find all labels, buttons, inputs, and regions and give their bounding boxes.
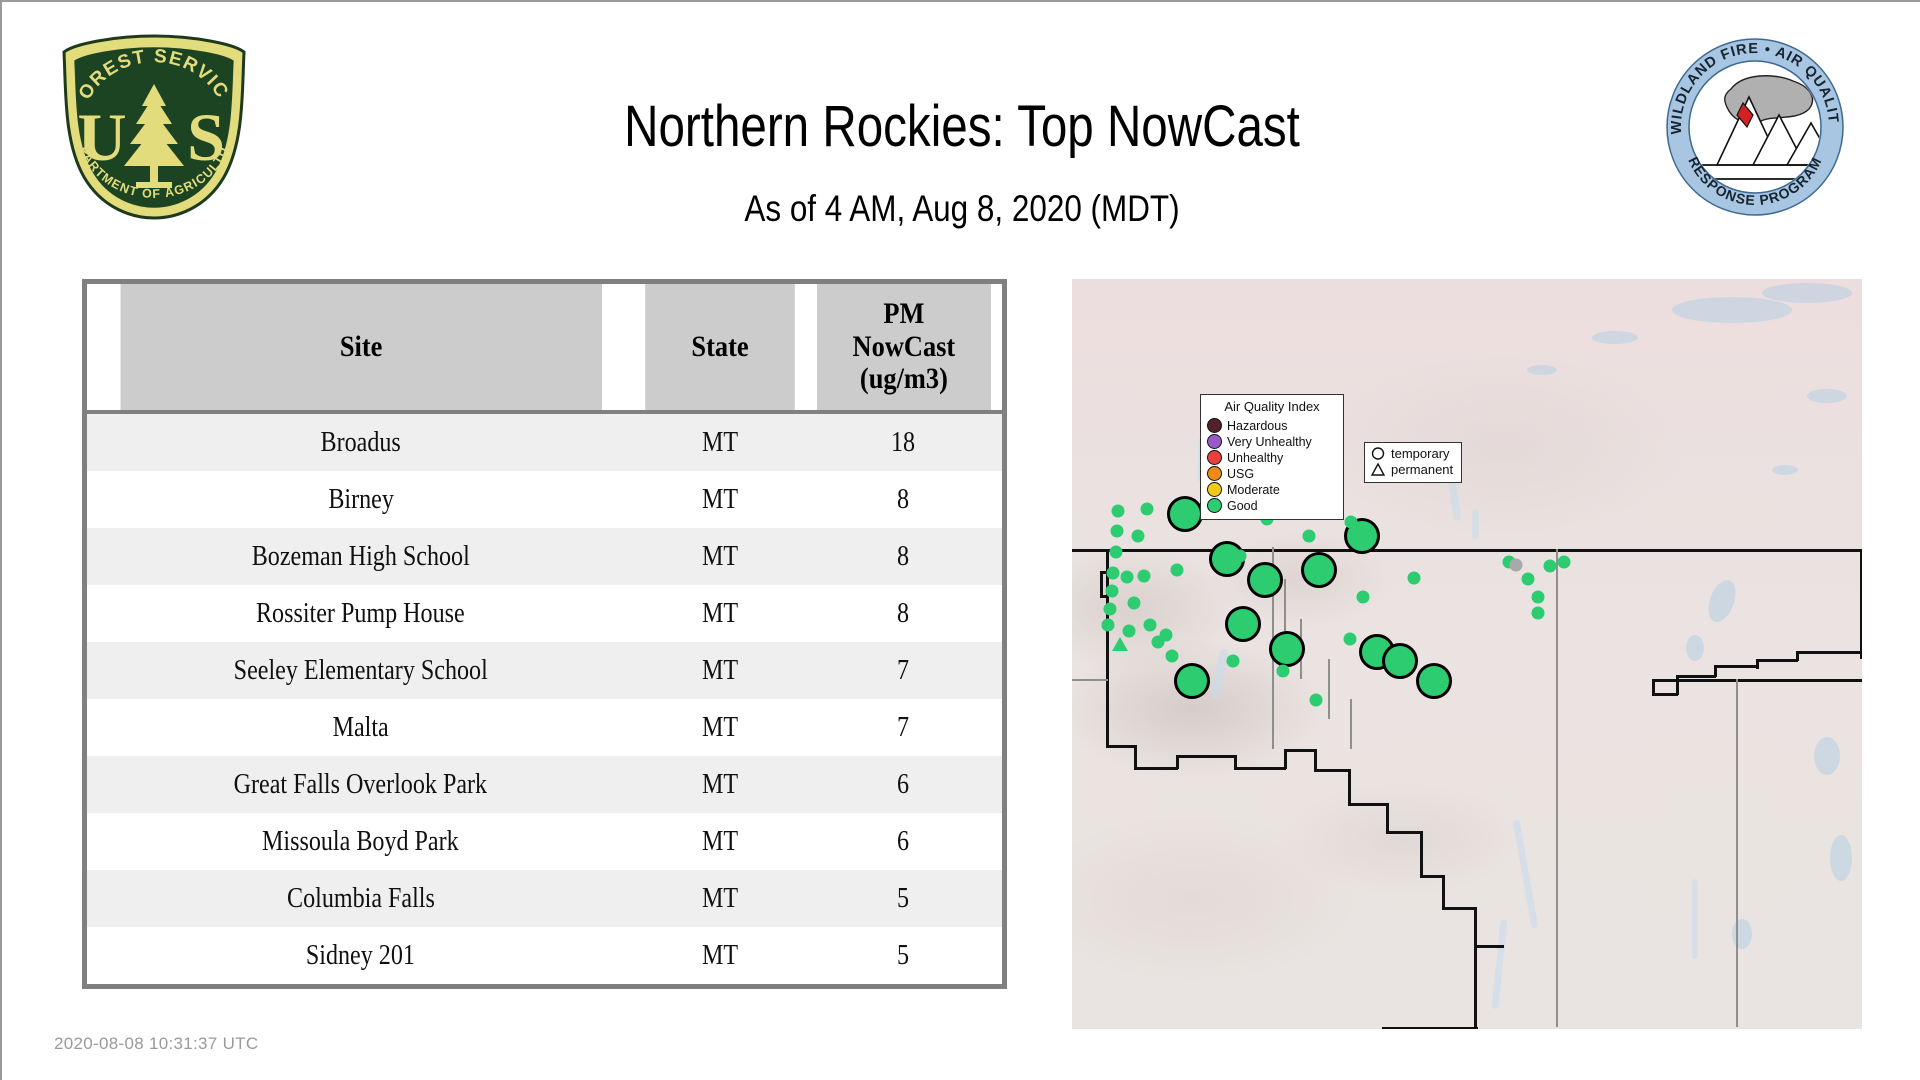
table-cell-state-label: MT (701, 427, 737, 459)
table-cell-pm-nowcast: 5 (805, 870, 1005, 927)
map-monitor-dot[interactable] (1510, 559, 1523, 572)
table-cell-state: MT (635, 471, 805, 528)
table-cell-site: Seeley Elementary School (85, 642, 635, 699)
map-monitor-dot[interactable] (1171, 564, 1184, 577)
table-cell-pm-nowcast: 8 (805, 528, 1005, 585)
page-title: Northern Rockies: Top NowCast (470, 93, 1454, 160)
table-row: Rossiter Pump HouseMT8 (85, 585, 1005, 642)
table-cell-pm-nowcast-label: 5 (897, 940, 909, 972)
aqi-monitor-map[interactable]: Air Quality Index HazardousVery Unhealth… (1072, 279, 1862, 1029)
map-monitor-dot[interactable] (1141, 503, 1154, 516)
table-cell-state-label: MT (701, 769, 737, 801)
table-cell-site: Sidney 201 (85, 927, 635, 987)
forest-service-logo: FOREST SERVICE U S DEPARTMENT OF AGRICUL… (54, 32, 254, 222)
map-monitor-dot[interactable] (1112, 505, 1125, 518)
table-cell-state-label: MT (701, 826, 737, 858)
table-cell-pm-nowcast: 7 (805, 699, 1005, 756)
column-header-pm-line3: (ug/m3) (859, 362, 947, 395)
aqi-legend-swatch-icon (1207, 482, 1222, 497)
table-cell-state: MT (635, 528, 805, 585)
table-cell-site-label: Columbia Falls (287, 883, 435, 915)
column-header-site-label: Site (339, 330, 382, 363)
wfaqrp-logo: WILDLAND FIRE • AIR QUALITY RESPONSE PRO… (1665, 37, 1845, 217)
map-monitor-dot[interactable] (1277, 665, 1290, 678)
table-cell-site-label: Sidney 201 (306, 940, 415, 972)
map-monitor-dot[interactable] (1138, 570, 1151, 583)
table-row: BirneyMT8 (85, 471, 1005, 528)
table-cell-site-label: Great Falls Overlook Park (234, 769, 487, 801)
aqi-legend-rows: HazardousVery UnhealthyUnhealthyUSGModer… (1207, 418, 1337, 514)
map-monitor-dot[interactable] (1357, 591, 1370, 604)
site-type-legend: temporary permanent (1364, 442, 1462, 483)
table-cell-pm-nowcast: 7 (805, 642, 1005, 699)
aqi-legend-label: Moderate (1227, 482, 1280, 498)
map-monitor-highlighted[interactable] (1247, 562, 1283, 598)
map-monitor-highlighted[interactable] (1382, 643, 1418, 679)
table-cell-pm-nowcast: 8 (805, 585, 1005, 642)
table-body: BroadusMT18BirneyMT8Bozeman High SchoolM… (85, 412, 1005, 987)
table-row: MaltaMT7 (85, 699, 1005, 756)
aqi-legend-item: Unhealthy (1207, 450, 1337, 466)
map-monitor-dot[interactable] (1121, 571, 1134, 584)
map-monitor-highlighted[interactable] (1225, 606, 1261, 642)
site-type-legend-permanent: permanent (1370, 462, 1453, 478)
table-cell-pm-nowcast-label: 18 (891, 427, 915, 459)
table-cell-state: MT (635, 585, 805, 642)
map-monitor-dot[interactable] (1558, 556, 1571, 569)
map-monitor-dot[interactable] (1532, 607, 1545, 620)
table-cell-pm-nowcast-label: 8 (897, 484, 909, 516)
aqi-legend-item: Hazardous (1207, 418, 1337, 434)
table-row: Bozeman High SchoolMT8 (85, 528, 1005, 585)
map-monitor-dot[interactable] (1106, 585, 1119, 598)
table-header: Site State PM NowCast (ug/m3) (85, 282, 1005, 413)
aqi-legend-label: USG (1227, 466, 1254, 482)
table-cell-site-label: Seeley Elementary School (234, 655, 488, 687)
aqi-legend-item: Moderate (1207, 482, 1337, 498)
table-row: BroadusMT18 (85, 412, 1005, 471)
aqi-legend-item: Very Unhealthy (1207, 434, 1337, 450)
map-monitor-dot[interactable] (1102, 619, 1115, 632)
aqi-legend-swatch-icon (1207, 450, 1222, 465)
table-cell-state-label: MT (701, 712, 737, 744)
table-row: Great Falls Overlook ParkMT6 (85, 756, 1005, 813)
aqi-legend-swatch-icon (1207, 498, 1222, 513)
map-monitor-dot[interactable] (1110, 546, 1123, 559)
table-cell-site: Broadus (85, 412, 635, 471)
table-cell-state-label: MT (701, 940, 737, 972)
map-monitor-dot[interactable] (1522, 573, 1535, 586)
table-cell-state-label: MT (701, 883, 737, 915)
aqi-legend-swatch-icon (1207, 466, 1222, 481)
table-row: Sidney 201MT5 (85, 927, 1005, 987)
table-cell-site-label: Broadus (321, 427, 401, 459)
table-cell-site: Bozeman High School (85, 528, 635, 585)
site-type-legend-temporary: temporary (1370, 446, 1453, 462)
table-cell-state: MT (635, 699, 805, 756)
table-cell-site: Columbia Falls (85, 870, 635, 927)
table-cell-state-label: MT (701, 484, 737, 516)
table-cell-state-label: MT (701, 598, 737, 630)
map-monitor-dot[interactable] (1544, 560, 1557, 573)
temporary-circle-icon (1370, 446, 1386, 461)
table-cell-state-label: MT (701, 541, 737, 573)
map-monitor-dot[interactable] (1132, 530, 1145, 543)
map-monitor-dot[interactable] (1123, 625, 1136, 638)
map-monitor-highlighted[interactable] (1167, 496, 1203, 532)
map-monitor-dot[interactable] (1234, 550, 1247, 563)
site-type-legend-permanent-label: permanent (1391, 462, 1453, 478)
table-cell-site: Great Falls Overlook Park (85, 756, 635, 813)
page-header: FOREST SERVICE U S DEPARTMENT OF AGRICUL… (2, 2, 1920, 232)
map-water-features (1072, 279, 1862, 1029)
page-subtitle: As of 4 AM, Aug 8, 2020 (MDT) (452, 188, 1472, 230)
table-cell-state: MT (635, 813, 805, 870)
map-monitor-highlighted[interactable] (1269, 631, 1305, 667)
aqi-legend-label: Hazardous (1227, 418, 1287, 434)
aqi-legend-label: Unhealthy (1227, 450, 1283, 466)
map-monitor-dot[interactable] (1166, 650, 1179, 663)
column-header-state-label: State (691, 330, 748, 363)
nowcast-table-container: Site State PM NowCast (ug/m3) BroadusMT1… (82, 279, 1002, 989)
table-cell-state: MT (635, 642, 805, 699)
permanent-triangle-icon (1370, 462, 1386, 477)
column-header-site: Site (118, 282, 602, 413)
column-header-pm-line1: PM (883, 297, 924, 330)
table-cell-state: MT (635, 756, 805, 813)
table-cell-pm-nowcast-label: 8 (897, 598, 909, 630)
table-cell-site-label: Missoula Boyd Park (262, 826, 459, 858)
map-monitor-dot[interactable] (1104, 603, 1117, 616)
table-cell-pm-nowcast-label: 7 (897, 655, 909, 687)
map-monitor-dot[interactable] (1344, 633, 1357, 646)
aqi-legend-item: USG (1207, 466, 1337, 482)
column-header-pm-line2: NowCast (852, 330, 955, 363)
table-cell-pm-nowcast: 5 (805, 927, 1005, 987)
table-cell-pm-nowcast-label: 6 (897, 769, 909, 801)
aqi-legend-item: Good (1207, 498, 1337, 514)
table-cell-pm-nowcast: 6 (805, 813, 1005, 870)
table-cell-pm-nowcast-label: 8 (897, 541, 909, 573)
map-monitor-dot[interactable] (1111, 525, 1124, 538)
table-cell-pm-nowcast: 18 (805, 412, 1005, 471)
map-monitor-dot[interactable] (1227, 655, 1240, 668)
map-monitor-dot[interactable] (1144, 619, 1157, 632)
table-header-row: Site State PM NowCast (ug/m3) (85, 282, 1005, 413)
table-row: Columbia FallsMT5 (85, 870, 1005, 927)
table-cell-site-label: Malta (333, 712, 389, 744)
table-cell-state-label: MT (701, 655, 737, 687)
map-monitor-highlighted[interactable] (1416, 663, 1452, 699)
map-monitor-dot[interactable] (1128, 597, 1141, 610)
map-monitor-permanent[interactable] (1112, 637, 1128, 651)
table-cell-site-label: Rossiter Pump House (256, 598, 465, 630)
map-monitor-dot[interactable] (1345, 516, 1358, 529)
map-monitor-dot[interactable] (1532, 591, 1545, 604)
aqi-legend-swatch-icon (1207, 434, 1222, 449)
table-cell-state: MT (635, 927, 805, 987)
table-cell-pm-nowcast-label: 5 (897, 883, 909, 915)
table-cell-site-label: Bozeman High School (252, 541, 470, 573)
table-row: Missoula Boyd ParkMT6 (85, 813, 1005, 870)
map-monitor-dot[interactable] (1408, 572, 1421, 585)
map-monitor-dot[interactable] (1310, 694, 1323, 707)
aqi-legend-label: Very Unhealthy (1227, 434, 1312, 450)
aqi-legend-label: Good (1227, 498, 1258, 514)
table-cell-site: Rossiter Pump House (85, 585, 635, 642)
map-monitor-dot[interactable] (1160, 629, 1173, 642)
column-header-state: State (645, 282, 795, 413)
table-cell-pm-nowcast: 6 (805, 756, 1005, 813)
table-cell-pm-nowcast-label: 6 (897, 826, 909, 858)
table-cell-site: Missoula Boyd Park (85, 813, 635, 870)
nowcast-table: Site State PM NowCast (ug/m3) BroadusMT1… (82, 279, 1007, 989)
generation-timestamp: 2020-08-08 10:31:37 UTC (54, 1034, 258, 1054)
table-cell-site: Birney (85, 471, 635, 528)
aqi-legend: Air Quality Index HazardousVery Unhealth… (1200, 394, 1344, 520)
table-cell-pm-nowcast: 8 (805, 471, 1005, 528)
table-cell-state: MT (635, 412, 805, 471)
map-monitor-highlighted[interactable] (1301, 552, 1337, 588)
site-type-legend-temporary-label: temporary (1391, 446, 1450, 462)
table-cell-site-label: Birney (328, 484, 394, 516)
map-monitor-dot[interactable] (1303, 530, 1316, 543)
column-header-pm-nowcast: PM NowCast (ug/m3) (817, 282, 993, 413)
table-cell-state: MT (635, 870, 805, 927)
aqi-legend-swatch-icon (1207, 418, 1222, 433)
table-cell-site: Malta (85, 699, 635, 756)
table-cell-pm-nowcast-label: 7 (897, 712, 909, 744)
aqi-legend-title: Air Quality Index (1207, 399, 1337, 416)
map-monitor-dot[interactable] (1107, 567, 1120, 580)
map-monitor-highlighted[interactable] (1174, 663, 1210, 699)
table-row: Seeley Elementary SchoolMT7 (85, 642, 1005, 699)
